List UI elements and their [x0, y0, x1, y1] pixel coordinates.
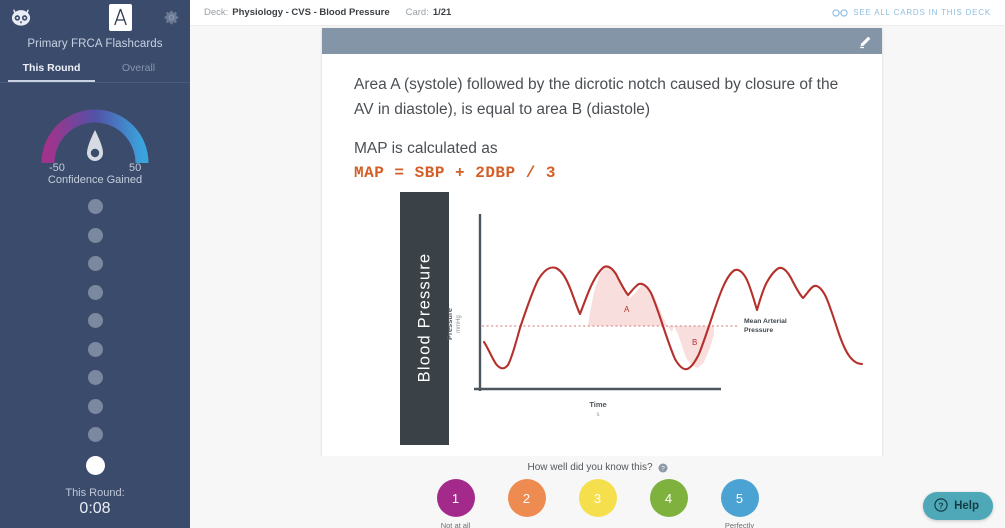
round-time: 0:08 — [0, 500, 190, 518]
svg-text:?: ? — [938, 500, 943, 510]
question-circle-icon[interactable]: ? — [658, 463, 668, 473]
glasses-icon — [832, 9, 848, 17]
progress-dot[interactable] — [88, 256, 103, 271]
rating-option-value: 3 — [594, 491, 601, 506]
progress-dot[interactable] — [88, 199, 103, 214]
rating-question: How well did you know this? ? — [190, 456, 1005, 473]
gauge-min-label: -50 — [49, 162, 65, 173]
see-all-cards-label: SEE ALL CARDS IN THIS DECK — [853, 8, 991, 17]
rating-caption-low: Not at all — [441, 521, 471, 528]
rating-option-value: 2 — [523, 491, 530, 506]
sidebar-tabs: This Round Overall — [0, 58, 190, 83]
gauge-dial: -50 50 — [34, 97, 156, 173]
rating-scale: 1 Not at all 2 3 4 5 Perfectly — [190, 479, 1005, 517]
card-area: Area A (systole) followed by the dicroti… — [190, 26, 1005, 528]
app-logo[interactable] — [109, 4, 132, 31]
app-title: Primary FRCA Flashcards — [0, 38, 190, 50]
tab-this-round[interactable]: This Round — [8, 58, 95, 82]
tab-overall[interactable]: Overall — [95, 58, 182, 82]
svg-text:?: ? — [661, 465, 665, 472]
flashcard: Area A (systole) followed by the dicroti… — [322, 28, 882, 460]
progress-dot[interactable] — [88, 399, 103, 414]
rating-option-value: 4 — [665, 491, 672, 506]
progress-dot[interactable] — [88, 285, 103, 300]
rating-question-label: How well did you know this? — [527, 462, 652, 473]
sidebar-topbar — [0, 0, 190, 34]
flashcard-header — [322, 28, 882, 54]
gauge-caption: Confidence Gained — [0, 174, 190, 186]
deck-topbar: Deck: Physiology - CVS - Blood Pressure … — [190, 0, 1005, 26]
deck-label: Deck: — [204, 7, 228, 18]
rating-option-1[interactable]: 1 Not at all — [437, 479, 475, 517]
card-counter-value: 1/21 — [433, 7, 452, 18]
map-label-line1: Mean Arterial — [744, 318, 787, 325]
progress-dot[interactable] — [88, 313, 103, 328]
see-all-cards-link[interactable]: SEE ALL CARDS IN THIS DECK — [832, 8, 991, 17]
confidence-gauge: -50 50 Confidence Gained — [0, 97, 190, 186]
x-axis-label: Time — [589, 400, 606, 409]
progress-dot[interactable] — [88, 427, 103, 442]
map-label-line2: Pressure — [744, 327, 773, 334]
progress-dot-active[interactable] — [86, 456, 105, 475]
x-axis-unit: s — [597, 412, 600, 418]
flashcard-body: Area A (systole) followed by the dicroti… — [322, 54, 882, 460]
bp-waveform-chart: Pressure mmHg — [438, 192, 868, 448]
help-button-label: Help — [954, 500, 979, 512]
deck-name: Physiology - CVS - Blood Pressure — [232, 7, 389, 18]
rating-caption-high: Perfectly — [725, 521, 754, 528]
app-root: Primary FRCA Flashcards This Round Overa… — [0, 0, 1005, 528]
question-mark-circle-icon: ? — [934, 498, 948, 515]
progress-dot[interactable] — [88, 342, 103, 357]
card-label: Card: — [406, 7, 429, 18]
rating-option-value: 1 — [452, 491, 459, 506]
diagram-title: Blood Pressure — [415, 232, 434, 402]
rating-option-value: 5 — [736, 491, 743, 506]
pencil-edit-icon[interactable] — [858, 34, 873, 54]
blood-pressure-diagram: Blood Pressure Pressure mmHg — [354, 192, 850, 450]
main-panel: Deck: Physiology - CVS - Blood Pressure … — [190, 0, 1005, 528]
progress-dots — [0, 199, 190, 475]
arterial-pressure-waveform — [484, 267, 862, 370]
rating-option-3[interactable]: 3 — [579, 479, 617, 517]
map-formula: MAP = SBP + 2DBP / 3 — [354, 164, 850, 182]
y-axis-label: Pressure — [445, 308, 454, 340]
y-axis-unit: mmHg — [456, 315, 462, 333]
rating-zone: How well did you know this? ? 1 Not at a… — [190, 456, 1005, 528]
annotation-b: B — [692, 338, 697, 347]
progress-dot[interactable] — [88, 370, 103, 385]
rating-option-5[interactable]: 5 Perfectly — [721, 479, 759, 517]
gauge-max-label: 50 — [129, 162, 141, 173]
owl-mascot-icon[interactable] — [10, 7, 32, 27]
card-paragraph-2: MAP is calculated as — [354, 136, 850, 161]
rating-option-4[interactable]: 4 — [650, 479, 688, 517]
annotation-a: A — [624, 305, 630, 314]
gear-icon[interactable] — [163, 9, 180, 26]
help-button[interactable]: ? Help — [923, 492, 993, 520]
sidebar: Primary FRCA Flashcards This Round Overa… — [0, 0, 190, 528]
progress-dot[interactable] — [88, 228, 103, 243]
rating-option-2[interactable]: 2 — [508, 479, 546, 517]
round-label: This Round: — [0, 487, 190, 499]
round-timer: This Round: 0:08 — [0, 487, 190, 518]
card-paragraph-1: Area A (systole) followed by the dicroti… — [354, 72, 850, 122]
